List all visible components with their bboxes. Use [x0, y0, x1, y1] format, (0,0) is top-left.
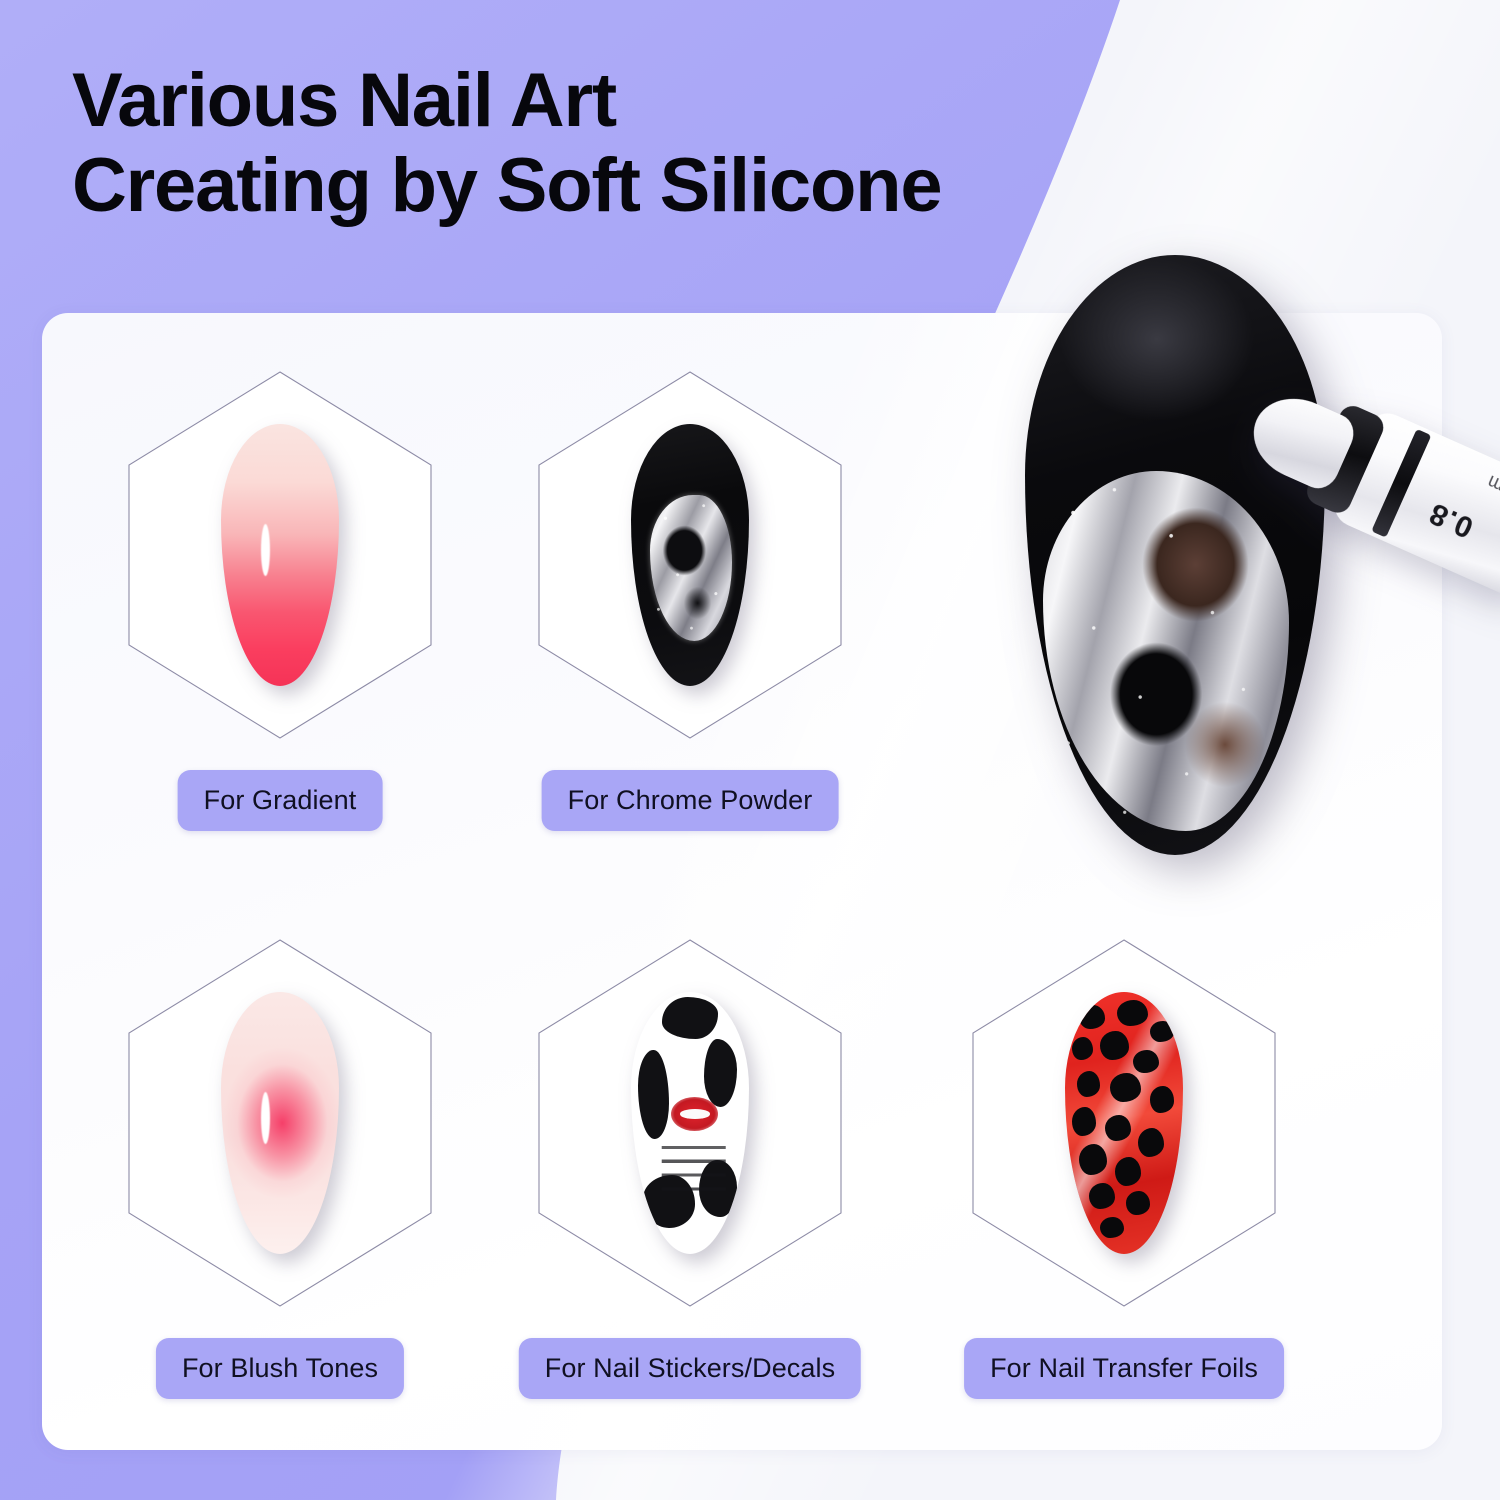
- nail-highlight: [261, 1092, 270, 1144]
- leopard-spot: [1110, 1073, 1141, 1102]
- decal-lips-icon: [671, 1097, 718, 1131]
- swatch-item-blush-tones[interactable]: For Blush Tones: [110, 938, 450, 1308]
- leopard-spot: [1126, 1191, 1150, 1215]
- leopard-spot: [1072, 1107, 1096, 1136]
- leopard-spot: [1115, 1157, 1141, 1186]
- decal-script-text: [662, 1139, 726, 1202]
- nail-swatch-decal: [631, 992, 749, 1254]
- leopard-spot: [1100, 1031, 1128, 1060]
- swatch-item-nail-stickers-decals[interactable]: For Nail Stickers/Decals: [520, 938, 860, 1308]
- leopard-spot: [1117, 1000, 1148, 1026]
- nail-highlight: [261, 524, 270, 576]
- leopard-spot: [1077, 1071, 1101, 1097]
- swatch-label-blush-tones[interactable]: For Blush Tones: [156, 1338, 404, 1399]
- nail-swatch-gradient: [221, 424, 339, 686]
- swatch-label-chrome-powder[interactable]: For Chrome Powder: [542, 770, 839, 831]
- swatch-item-nail-transfer-foils[interactable]: For Nail Transfer Foils: [954, 938, 1294, 1308]
- hexagon-frame-foils: [954, 938, 1294, 1308]
- hero-chrome-powder-area: [1043, 471, 1289, 831]
- decal-blot: [662, 997, 719, 1039]
- page-title: Various Nail Art Creating by Soft Silico…: [72, 58, 1322, 228]
- leopard-spot: [1138, 1128, 1164, 1157]
- swatch-item-gradient[interactable]: For Gradient: [110, 370, 450, 740]
- nail-swatch-foil: [1065, 992, 1183, 1254]
- infographic-canvas: Various Nail Art Creating by Soft Silico…: [0, 0, 1500, 1500]
- leopard-spot: [1150, 1086, 1174, 1112]
- leopard-spot: [1089, 1183, 1115, 1209]
- hexagon-frame-gradient: [110, 370, 450, 740]
- hexagon-frame-decals: [520, 938, 860, 1308]
- swatch-label-nail-transfer-foils[interactable]: For Nail Transfer Foils: [964, 1338, 1284, 1399]
- hero-black-nail: [1025, 255, 1325, 855]
- swatch-label-gradient[interactable]: For Gradient: [178, 770, 383, 831]
- nail-swatch-chrome: [631, 424, 749, 686]
- hexagon-frame-chrome: [520, 370, 860, 740]
- swatch-label-nail-stickers-decals[interactable]: For Nail Stickers/Decals: [519, 1338, 861, 1399]
- leopard-spot: [1079, 1005, 1105, 1029]
- hexagon-frame-blush: [110, 938, 450, 1308]
- leopard-spot: [1150, 1021, 1174, 1042]
- nail-swatch-blush: [221, 992, 339, 1254]
- swatch-item-chrome-powder[interactable]: For Chrome Powder: [520, 370, 860, 740]
- hero-product-photo: 0.8 mm: [985, 225, 1500, 915]
